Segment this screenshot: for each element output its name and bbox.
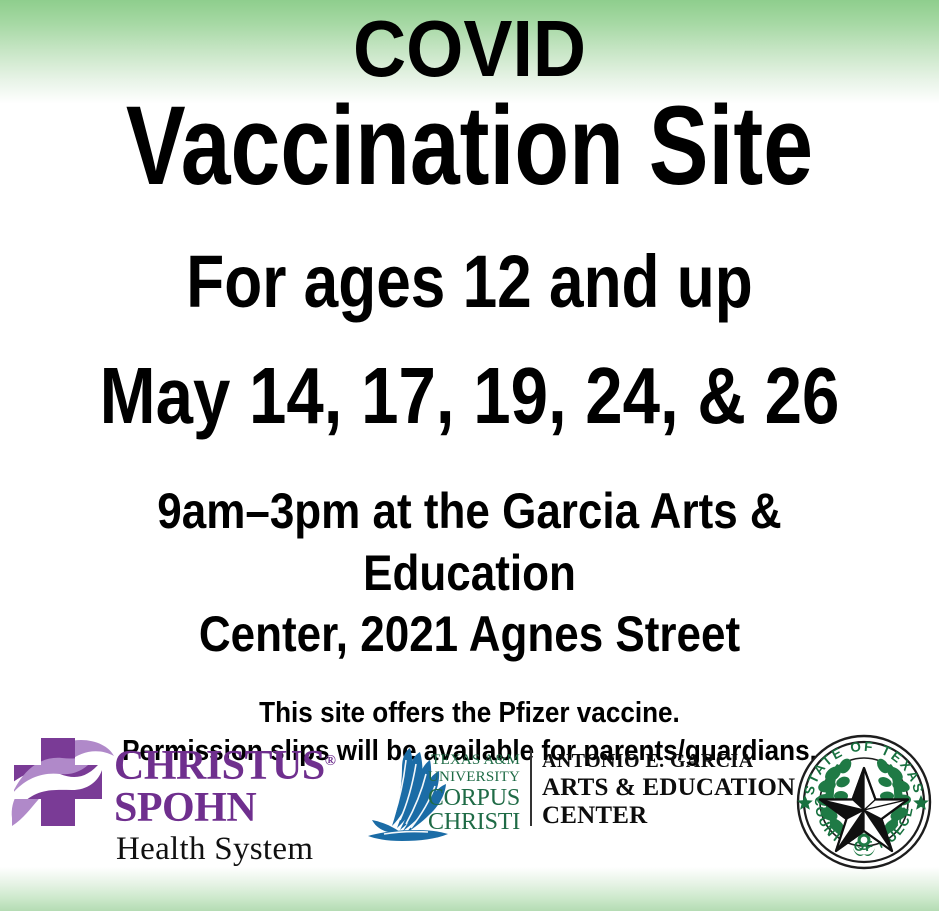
christus-spohn-logo: CHRISTUS® SPOHN Health System xyxy=(8,728,338,868)
tamucc-line-texas-am: TEXAS A&M xyxy=(420,752,520,769)
headline-block: COVID Vaccination Site For ages 12 and u… xyxy=(0,0,939,770)
garcia-line-center: CENTER xyxy=(542,802,795,830)
headline-age-eligibility: For ages 12 and up xyxy=(75,234,864,330)
christus-wordmark: CHRISTUS® SPOHN Health System xyxy=(114,742,336,868)
garcia-line-antonio-e-garcia: ANTONIO E. GARCIA xyxy=(542,749,795,774)
christus-tagline: Health System xyxy=(114,830,336,868)
detail-time-location-line-2: Center, 2021 Agnes Street xyxy=(56,604,882,664)
tamucc-line-christi: CHRISTI xyxy=(420,810,520,834)
covid-vaccination-site-poster: COVID Vaccination Site For ages 12 and u… xyxy=(0,0,939,911)
logo-divider-rule xyxy=(530,750,532,826)
headline-vaccination-site: Vaccination Site xyxy=(94,94,845,198)
christus-brand-text: CHRISTUS xyxy=(114,743,325,789)
christus-cross-swoosh-icon xyxy=(8,732,116,836)
tamucc-line-university: UNIVERSITY xyxy=(420,769,520,786)
tamucc-wordmark: TEXAS A&M UNIVERSITY CORPUS CHRISTI xyxy=(420,752,520,834)
spohn-brand-text: SPOHN xyxy=(114,786,336,830)
nueces-county-seal-icon: STATE OF TEXAS COUNTY OF NUECES xyxy=(793,724,935,872)
garcia-line-arts-education: ARTS & EDUCATION xyxy=(542,774,795,802)
detail-time-location-line-1: 9am–3pm at the Garcia Arts & Education xyxy=(56,480,882,604)
registered-trademark-icon: ® xyxy=(325,753,336,769)
garcia-center-wordmark: ANTONIO E. GARCIA ARTS & EDUCATION CENTE… xyxy=(542,749,795,830)
headline-dates: May 14, 17, 19, 24, & 26 xyxy=(75,348,864,444)
headline-covid: COVID xyxy=(38,6,902,92)
sponsor-logo-row: CHRISTUS® SPOHN Health System xyxy=(0,722,939,882)
tamucc-line-corpus: CORPUS xyxy=(420,786,520,810)
christus-brand-line: CHRISTUS® xyxy=(114,742,336,786)
tamucc-garcia-center-logo: TEXAS A&M UNIVERSITY CORPUS CHRISTI ANTO… xyxy=(366,746,786,866)
